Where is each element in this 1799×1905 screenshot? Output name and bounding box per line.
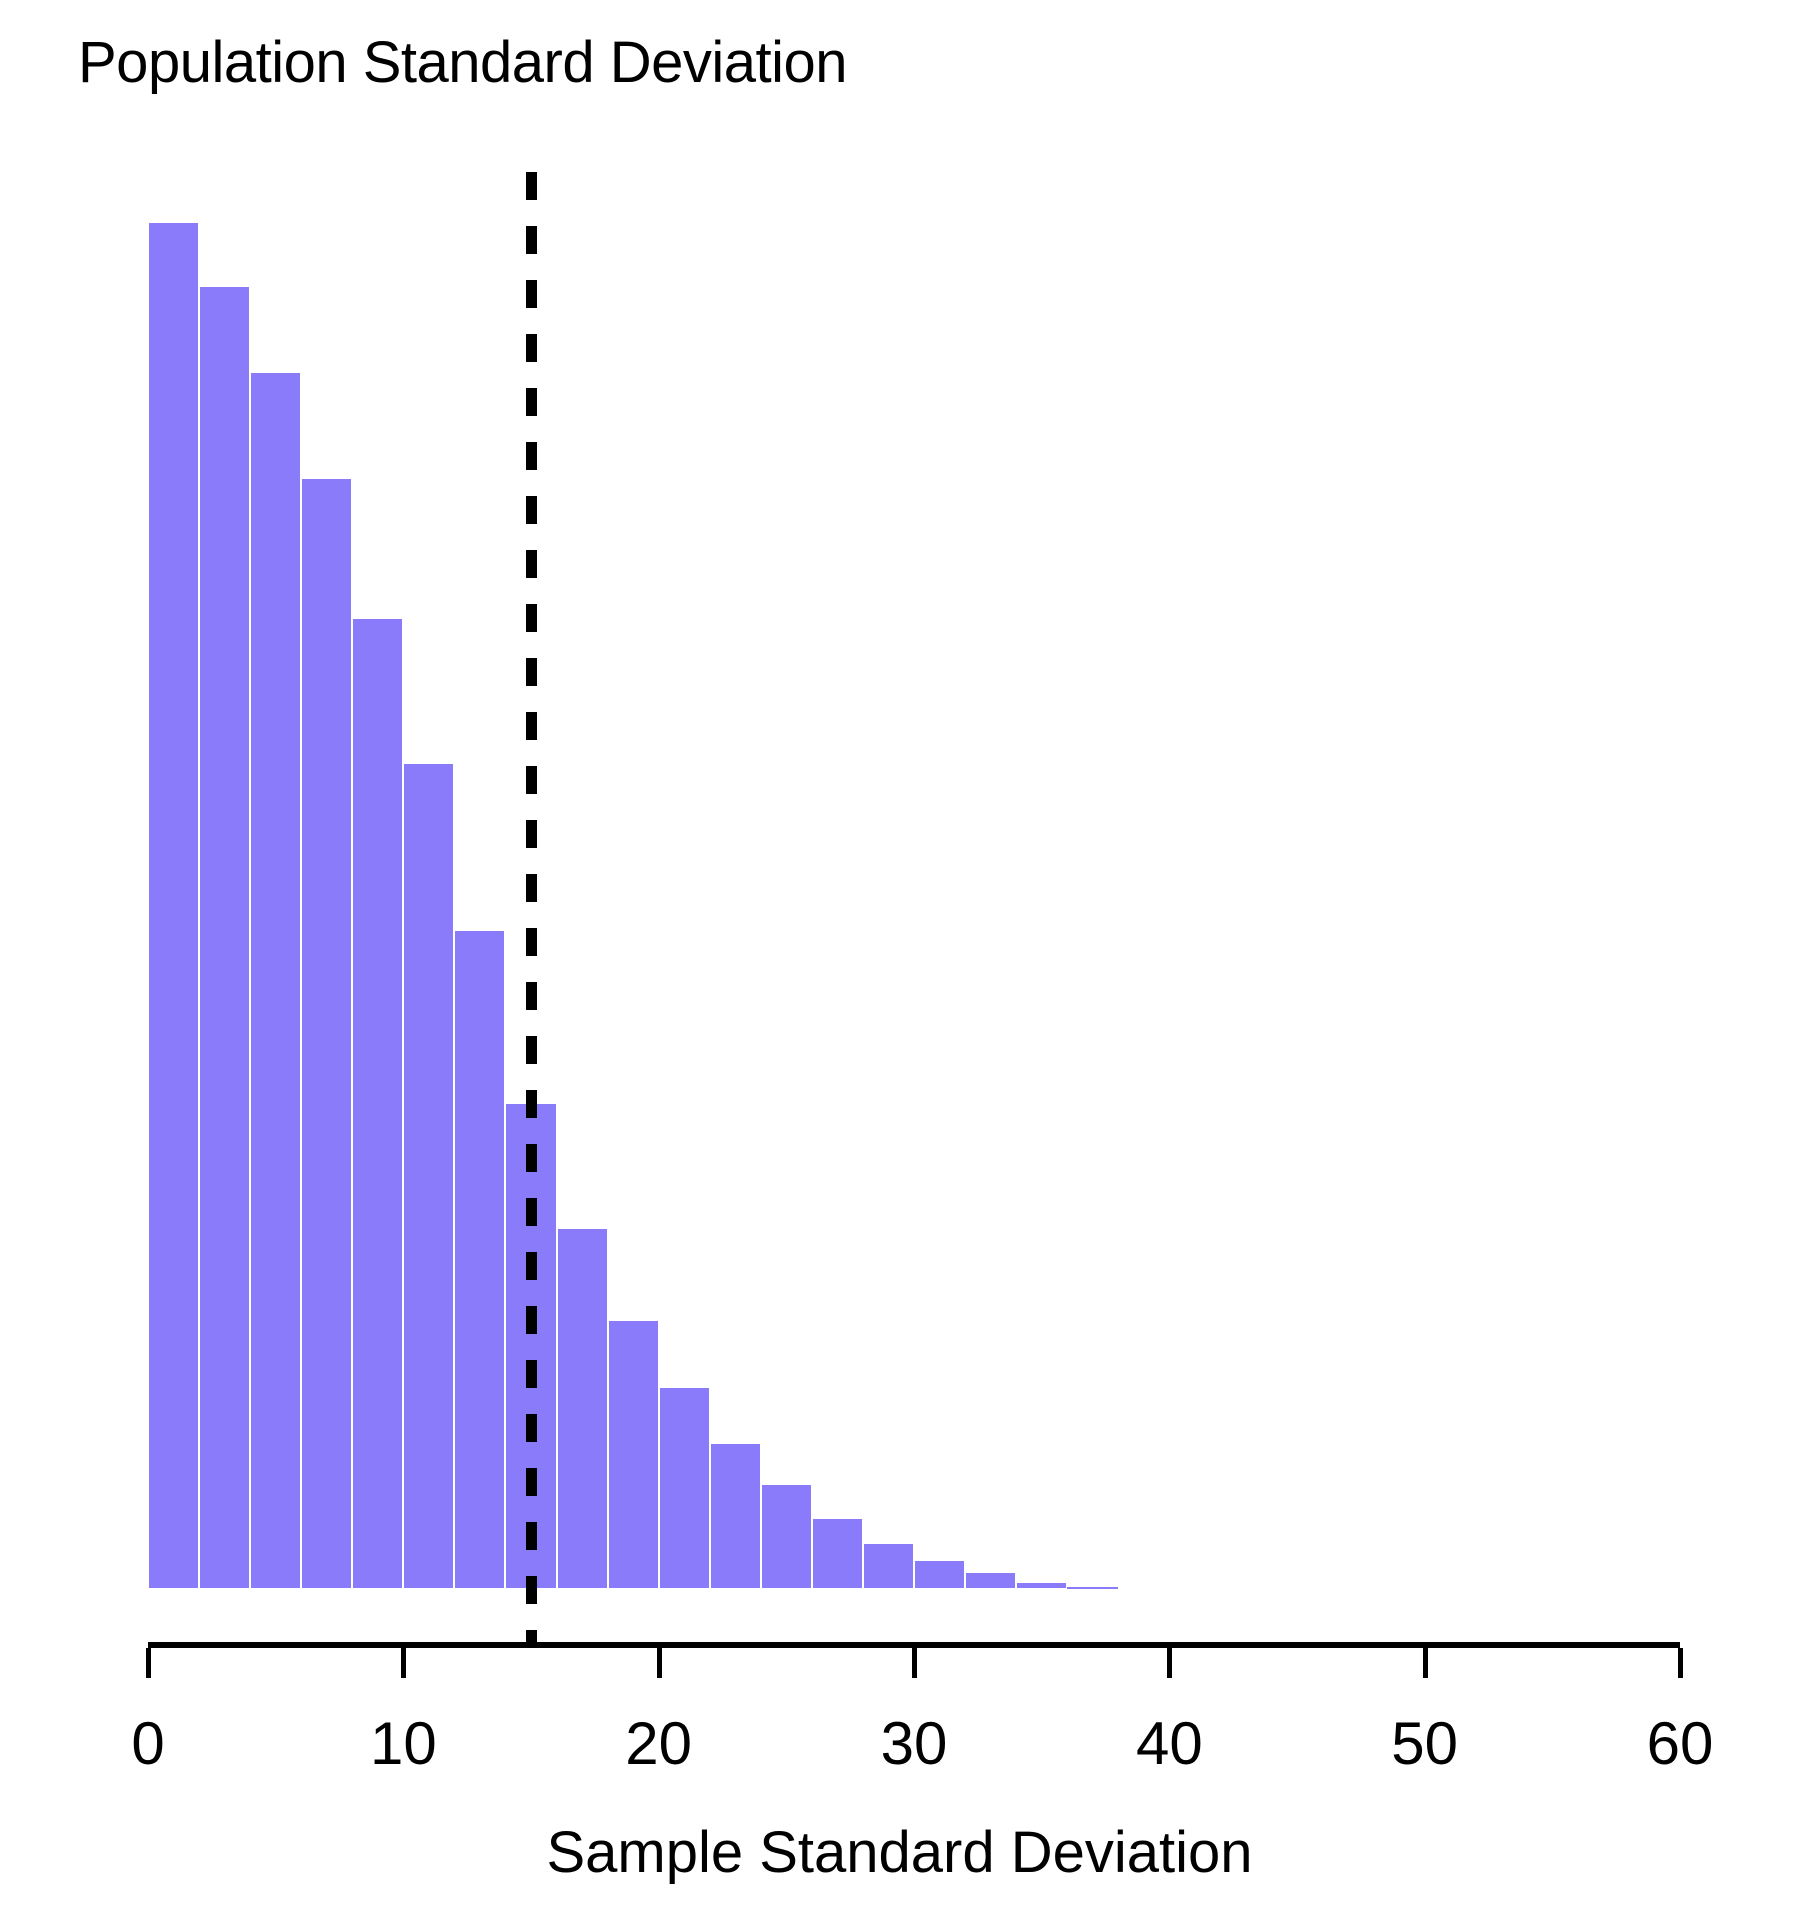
x-axis-tick-label: 40	[1136, 1714, 1203, 1774]
histogram-bar	[557, 1228, 608, 1589]
histogram-bar	[403, 763, 454, 1589]
histogram-bar	[250, 372, 301, 1589]
plot-area: 0102030405060	[0, 0, 1799, 1905]
x-axis-tick	[1678, 1648, 1683, 1678]
histogram-bar	[301, 478, 352, 1589]
histogram-bar	[914, 1560, 965, 1589]
histogram-bar	[1016, 1582, 1067, 1589]
x-axis-tick	[657, 1648, 662, 1678]
x-axis-tick-label: 10	[370, 1714, 437, 1774]
histogram-bar	[710, 1443, 761, 1589]
x-axis-title: Sample Standard Deviation	[0, 1824, 1799, 1882]
histogram-bar	[965, 1572, 1016, 1589]
histogram-bar	[812, 1518, 863, 1589]
population-sd-reference-line	[526, 172, 537, 1642]
histogram-figure: Population Standard Deviation 0102030405…	[0, 0, 1799, 1905]
x-axis-tick-label: 0	[131, 1714, 164, 1774]
histogram-bar	[659, 1387, 710, 1589]
histogram-bar	[761, 1484, 812, 1589]
x-axis-tick	[146, 1648, 151, 1678]
histogram-bar	[352, 618, 403, 1589]
x-axis-tick	[1167, 1648, 1172, 1678]
x-axis-tick-label: 60	[1647, 1714, 1714, 1774]
histogram-bar	[863, 1543, 914, 1589]
histogram-bar	[454, 930, 505, 1589]
x-axis-tick-label: 30	[881, 1714, 948, 1774]
histogram-bar	[608, 1320, 659, 1589]
x-axis-tick-label: 20	[625, 1714, 692, 1774]
histogram-bar	[199, 286, 250, 1589]
x-axis-tick-label: 50	[1391, 1714, 1458, 1774]
histogram-bar	[148, 222, 199, 1589]
x-axis-tick	[912, 1648, 917, 1678]
x-axis-tick	[401, 1648, 406, 1678]
histogram-bar	[1067, 1587, 1118, 1589]
x-axis-tick	[1423, 1648, 1428, 1678]
